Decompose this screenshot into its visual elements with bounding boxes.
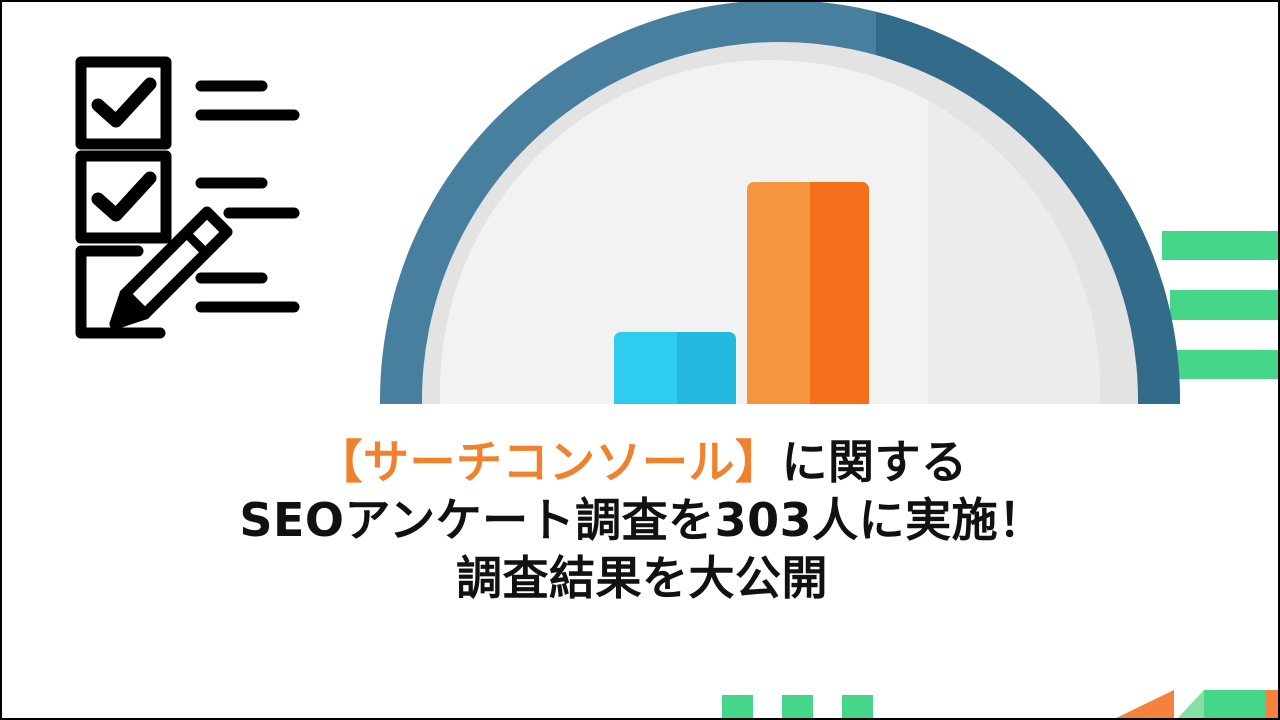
title-line-1: 【サーチコンソール】に関する [2, 434, 1280, 492]
title-line-3: 調査結果を大公開 [2, 550, 1280, 608]
bar-chart-bar-1 [614, 332, 736, 404]
bar-2-dark-half [810, 182, 869, 404]
bar-1-light-half [614, 332, 677, 404]
banner-canvas: 【サーチコンソール】に関する SEOアンケート調査を303人に実施！ 調査結果を… [0, 0, 1280, 720]
bar-1-dark-half [677, 332, 736, 404]
title-line-2: SEOアンケート調査を303人に実施！ [2, 492, 1280, 550]
decorative-triangle-orange-2 [1266, 690, 1280, 720]
magnifying-glass-graphic [380, 0, 1180, 404]
decorative-square-2 [782, 695, 813, 720]
page-title: 【サーチコンソール】に関する SEOアンケート調査を303人に実施！ 調査結果を… [2, 434, 1280, 608]
decorative-triangle-light-green [1174, 690, 1204, 720]
bar-2-light-half [747, 182, 810, 404]
decorative-stripe-2 [1170, 290, 1278, 320]
checklist-pencil-icon [74, 55, 318, 355]
decorative-square-1 [722, 695, 753, 720]
title-line-1-rest: に関する [782, 435, 968, 489]
decorative-triangle-green [1204, 690, 1268, 720]
decorative-triangle-group [1108, 690, 1280, 720]
decorative-triangle-orange [1108, 690, 1174, 720]
bar-chart-bar-2 [747, 182, 869, 404]
checklist-svg [74, 55, 318, 355]
title-accent: 【サーチコンソール】 [317, 435, 782, 489]
decorative-square-3 [842, 695, 873, 720]
